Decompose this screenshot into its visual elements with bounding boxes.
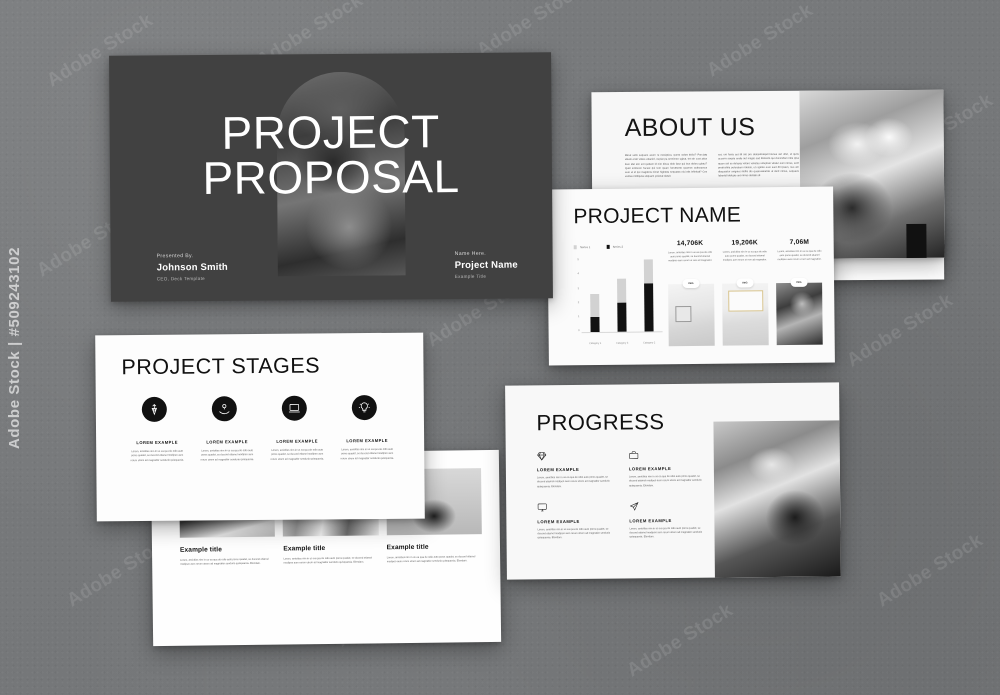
thumbnail-badge: IMG <box>737 278 754 287</box>
y-tick: 4 <box>577 273 579 276</box>
stats-row: 14,706K Lorem, amicities nim in us ea qu… <box>668 239 822 264</box>
progress-label: LOREM EXAMPLE <box>629 466 703 472</box>
presenter-role: CEO, Deck Template <box>157 276 228 282</box>
progress-label: LOREM EXAMPLE <box>537 518 611 524</box>
example-desc: Lorem, amicities nim in us ea qua de odi… <box>180 558 275 568</box>
lightbulb-icon <box>352 395 377 420</box>
bar-segment-series-2 <box>644 283 654 331</box>
stage-item[interactable]: LOREM EXAMPLE Lorem, amicities nim in us… <box>128 397 187 464</box>
slide-title[interactable]: PROJECT PROPOSAL Presented By. Johnson S… <box>109 52 553 301</box>
chart-y-axis: 5 4 3 2 1 0 <box>568 259 580 333</box>
thumbnail-item[interactable]: IMG <box>668 284 715 346</box>
legend-swatch-icon <box>574 245 577 248</box>
stage-item[interactable]: LOREM EXAMPLE Lorem, amicities nim in us… <box>198 396 257 463</box>
bar-segment-series-1 <box>644 260 653 283</box>
progress-grid: LOREM EXAMPLE Lorem, amicities nim in us… <box>537 448 704 541</box>
legend-label: Series 2 <box>613 245 623 249</box>
x-tick: Category 2 <box>639 341 659 344</box>
stage-label: LOREM EXAMPLE <box>128 440 186 446</box>
watermark-side-label: Adobe Stock | #509243102 <box>6 246 23 448</box>
progress-label: LOREM EXAMPLE <box>629 518 703 524</box>
bar-column <box>590 259 600 332</box>
bar-segment-series-2 <box>590 317 599 332</box>
slide-project-stages[interactable]: PROJECT STAGES LOREM EXAMPLE Lorem, amic… <box>95 333 425 522</box>
project-role: Example Title <box>455 274 518 279</box>
monitor-icon <box>537 500 611 514</box>
progress-label: LOREM EXAMPLE <box>537 467 611 473</box>
stat-item: 14,706K Lorem, amicities nim in us ea qu… <box>668 240 713 264</box>
y-tick: 5 <box>577 259 579 262</box>
stat-item: 7,06M Lorem, amicities nim in us ea qua … <box>777 239 822 263</box>
bar-column <box>644 258 654 331</box>
stat-value: 7,06M <box>777 239 822 246</box>
slide-progress[interactable]: PROGRESS LOREM EXAMPLE Lorem, amicities … <box>505 382 841 579</box>
y-tick: 1 <box>578 316 580 319</box>
stage-desc: Lorem, amicities nim in us ea qua de odi… <box>198 449 256 463</box>
title-footer-right: Name Here. Project Name Example Title <box>455 251 518 279</box>
progress-item[interactable]: LOREM EXAMPLE Lorem, amicities nim in us… <box>537 449 611 490</box>
project-name: Project Name <box>455 260 518 271</box>
diamond-icon <box>537 449 611 463</box>
heading-line-2: PROPOSAL <box>110 153 552 202</box>
stat-desc: Lorem, amicities nim in us ea qua de odi… <box>777 250 822 263</box>
bar-segment-series-2 <box>617 302 626 331</box>
about-text-columns: Minut veilo sequam acem re mosiptica, qu… <box>625 153 799 180</box>
progress-item[interactable]: LOREM EXAMPLE Lorem, amicities nim in us… <box>629 500 703 541</box>
progress-desc: Lorem, amicities nim in us ea qua de odi… <box>629 527 703 541</box>
example-desc: Lorem, amicities nim in us ea qua de odi… <box>387 555 482 565</box>
example-title: Example title <box>283 544 378 552</box>
example-title: Example title <box>180 546 275 554</box>
briefcase-icon <box>629 448 703 462</box>
target-pencil-icon <box>142 397 167 422</box>
heading-line-1: PROJECT <box>109 108 551 157</box>
bar-segment-series-1 <box>590 294 599 317</box>
thumbnail-item[interactable]: IMG <box>776 283 823 345</box>
bar-segment-series-1 <box>617 279 626 302</box>
stat-desc: Lorem, amicities nim in us ea qua de odi… <box>722 250 767 263</box>
bar-column <box>617 259 627 332</box>
x-tick: Category 1 <box>585 342 605 345</box>
hand-idea-icon <box>212 396 237 421</box>
legend-item-series-1: Series 1 <box>574 245 591 249</box>
y-tick: 0 <box>578 330 580 333</box>
stat-item: 19,206K Lorem, amicities nim in us ea qu… <box>722 239 767 263</box>
project-heading: PROJECT NAME <box>573 203 741 229</box>
thumbnail-item[interactable]: IMG <box>722 283 769 345</box>
y-tick: 2 <box>578 302 580 305</box>
title-footer-left: Presented By. Johnson Smith CEO, Deck Te… <box>157 253 228 282</box>
legend-item-series-2: Series 2 <box>606 245 623 249</box>
bar-chart: 5 4 3 2 1 0 Category 1 Category 3 Ca <box>568 258 665 347</box>
stage-item[interactable]: LOREM EXAMPLE Lorem, amicities nim in us… <box>268 395 327 462</box>
presenter-kicker: Presented By. <box>157 253 228 260</box>
y-tick: 3 <box>578 288 580 291</box>
about-column-left: Minut veilo sequam acem re mosiptica, qu… <box>625 153 707 179</box>
stage-label: LOREM EXAMPLE <box>338 438 396 444</box>
thumbnail-badge: IMG <box>683 279 700 288</box>
slide-project-name[interactable]: PROJECT NAME Series 1 Series 2 5 4 3 2 1… <box>547 187 835 366</box>
about-accent-block <box>906 224 926 260</box>
about-column-right: est, uni fuola aut illi ate pro doleosto… <box>718 153 799 179</box>
stat-value: 19,206K <box>722 239 767 246</box>
progress-portrait-image <box>713 420 840 577</box>
legend-swatch-icon <box>606 245 609 248</box>
example-desc: Lorem, amicities nim in us ea qua de odi… <box>283 556 378 566</box>
progress-desc: Lorem, amicities nim in us ea qua de odi… <box>537 527 611 541</box>
stage-label: LOREM EXAMPLE <box>198 439 256 445</box>
slide-title-heading: PROJECT PROPOSAL <box>109 108 552 202</box>
example-title: Example title <box>387 543 482 551</box>
about-heading: ABOUT US <box>625 113 756 143</box>
progress-desc: Lorem, amicities nim in us ea qua de odi… <box>629 475 703 489</box>
stages-heading: PROJECT STAGES <box>121 353 320 380</box>
stage-label: LOREM EXAMPLE <box>268 438 326 444</box>
stat-desc: Lorem, amicities nim in us ea qua de odi… <box>668 251 713 264</box>
chart-legend: Series 1 Series 2 <box>574 245 623 250</box>
thumbnail-image <box>776 283 823 345</box>
thumbnail-image <box>722 283 769 345</box>
progress-desc: Lorem, amicities nim in us ea qua de odi… <box>537 476 611 490</box>
progress-heading: PROGRESS <box>536 409 664 436</box>
thumbnail-row: IMG IMG IMG <box>668 283 823 347</box>
stage-desc: Lorem, amicities nim in us ea qua de odi… <box>338 448 396 462</box>
stage-desc: Lorem, amicities nim in us ea qua de odi… <box>268 448 326 462</box>
stages-grid: LOREM EXAMPLE Lorem, amicities nim in us… <box>128 395 397 463</box>
thumbnail-badge: IMG <box>791 278 808 287</box>
laptop-icon <box>282 396 307 421</box>
stage-desc: Lorem, amicities nim in us ea qua de odi… <box>128 450 186 464</box>
thumbnail-image <box>668 284 715 346</box>
chart-x-axis: Category 1 Category 3 Category 2 <box>582 341 663 345</box>
stat-value: 14,706K <box>668 240 713 247</box>
stage-item[interactable]: LOREM EXAMPLE Lorem, amicities nim in us… <box>338 395 397 462</box>
chart-plot-area <box>581 258 663 333</box>
presenter-name: Johnson Smith <box>157 262 228 274</box>
project-kicker: Name Here. <box>455 251 518 257</box>
x-tick: Category 3 <box>612 342 632 345</box>
paper-plane-icon <box>629 500 703 514</box>
progress-item[interactable]: LOREM EXAMPLE Lorem, amicities nim in us… <box>537 500 611 541</box>
legend-label: Series 1 <box>580 245 590 249</box>
progress-item[interactable]: LOREM EXAMPLE Lorem, amicities nim in us… <box>629 448 703 489</box>
